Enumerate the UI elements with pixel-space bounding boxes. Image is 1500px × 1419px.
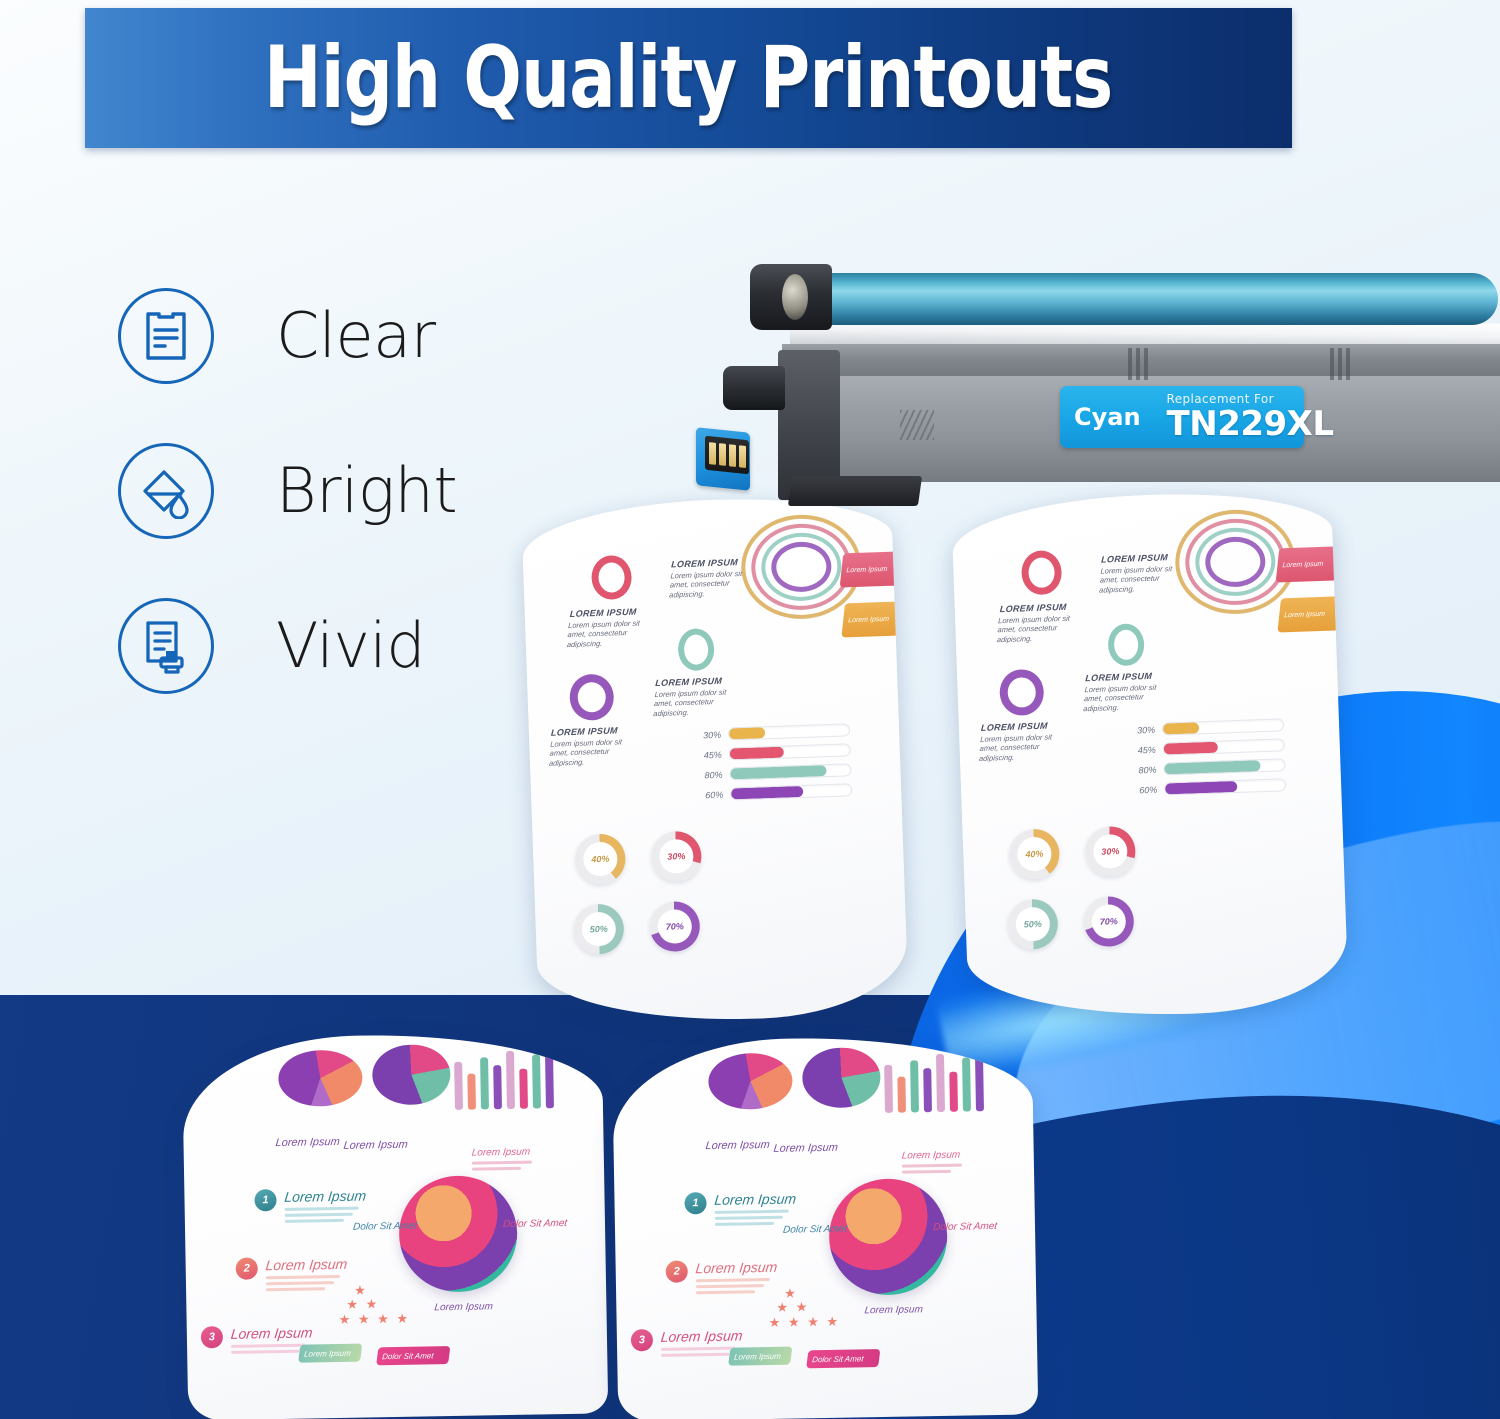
ig-body: Lorem ipsum dolor sit amet, consectetur … bbox=[567, 618, 647, 649]
printed-sheet-lower-left: Lorem Ipsum Lorem Ipsum Lorem Ipsum 1 Lo… bbox=[182, 1031, 609, 1419]
donut-chart: 40% bbox=[1009, 828, 1061, 880]
bar-pct: 30% bbox=[1131, 724, 1155, 735]
bar-row: 45% bbox=[1132, 738, 1285, 756]
pie-chart bbox=[802, 1047, 881, 1108]
ig-body: Lorem ipsum dolor sit amet, consectetur … bbox=[1083, 683, 1163, 714]
bar-track bbox=[729, 763, 851, 780]
bar-row: 80% bbox=[698, 763, 851, 781]
lorem-lines bbox=[472, 1161, 532, 1174]
bar-row: 30% bbox=[697, 723, 850, 741]
donut-value: 30% bbox=[1093, 834, 1128, 869]
bar-track bbox=[729, 743, 851, 760]
drum-roller bbox=[808, 273, 1498, 325]
number-badge: 1 bbox=[684, 1192, 706, 1214]
vertical-bar-group bbox=[884, 1049, 984, 1113]
drum-hub bbox=[782, 274, 808, 320]
sphere-chart bbox=[828, 1178, 948, 1296]
tag-pill-magenta: Dolor Sit Amet bbox=[806, 1349, 880, 1368]
lorem-label: Lorem Ipsum bbox=[230, 1324, 313, 1341]
dolor-label: Dolor Sit Amet bbox=[782, 1224, 847, 1236]
document-lines-icon bbox=[118, 288, 214, 384]
ig-body: Lorem ipsum dolor sit amet, consectetur … bbox=[997, 613, 1077, 644]
numbered-item-1: 1 Lorem Ipsum bbox=[254, 1187, 366, 1226]
donut-row-top: 40% 30% bbox=[575, 831, 703, 885]
pie-chart bbox=[708, 1053, 793, 1110]
vertical-bar-group bbox=[454, 1046, 554, 1110]
donut-row-bottom: 50% 70% bbox=[1007, 896, 1135, 950]
printed-sheet-upper-right: LOREM IPSUM Lorem ipsum dolor sit amet, … bbox=[951, 489, 1349, 1022]
bar-track bbox=[1162, 718, 1284, 735]
ig-body: Lorem ipsum dolor sit amet, consectetur … bbox=[669, 569, 751, 600]
feature-item-vivid: Vivid bbox=[118, 582, 457, 710]
bar-track bbox=[1163, 738, 1285, 755]
lorem-label: Lorem Ipsum bbox=[695, 1259, 778, 1276]
lorem-label: Lorem Ipsum bbox=[265, 1256, 348, 1273]
lorem-label: Lorem Ipsum bbox=[714, 1190, 797, 1207]
ig-body: Lorem ipsum dolor sit amet, consectetur … bbox=[549, 737, 629, 768]
lorem-label: Lorem Ipsum bbox=[434, 1301, 494, 1313]
tag-pill-green: Lorem Ipsum bbox=[298, 1344, 362, 1363]
donut-value: 70% bbox=[1091, 904, 1126, 939]
ring-teal bbox=[1107, 623, 1144, 666]
bar-pct: 45% bbox=[1132, 744, 1156, 755]
donut-chart: 30% bbox=[1084, 826, 1136, 878]
ig-body: Lorem ipsum dolor sit amet, consectetur … bbox=[979, 732, 1059, 763]
bar-track bbox=[1164, 778, 1286, 795]
banner-title: High Quality Printouts bbox=[264, 35, 1112, 121]
number-badge: 3 bbox=[201, 1326, 223, 1348]
ring-teal bbox=[677, 628, 714, 671]
dolor-label: Dolor Sit Amet bbox=[932, 1221, 997, 1233]
cartridge-chip bbox=[705, 436, 749, 475]
tag-pill-orange: Lorem Ipsum bbox=[1277, 596, 1343, 632]
printed-sheet-lower-right: Lorem Ipsum Lorem Ipsum Lorem Ipsum 1 Lo… bbox=[612, 1034, 1039, 1419]
cartridge-label: Cyan Replacement For TN229XL bbox=[1060, 386, 1304, 448]
donut-chart: 50% bbox=[1007, 898, 1059, 950]
header-banner: High Quality Printouts bbox=[85, 8, 1292, 148]
pie-chart bbox=[372, 1044, 451, 1105]
dolor-label: Dolor Sit Amet bbox=[502, 1218, 567, 1230]
lorem-label: Lorem Ipsum bbox=[284, 1187, 367, 1204]
feature-label-bright: Bright bbox=[276, 460, 457, 522]
number-badge: 1 bbox=[254, 1189, 276, 1211]
ig-body: Lorem ipsum dolor sit amet, consectetur … bbox=[1099, 564, 1181, 595]
numbered-item-3: 3 Lorem Ipsum bbox=[201, 1324, 313, 1357]
tag-pill-green: Lorem Ipsum bbox=[728, 1347, 792, 1366]
lorem-label: Lorem Ipsum bbox=[773, 1142, 838, 1155]
cartridge-knob bbox=[723, 366, 785, 410]
feature-item-bright: Bright bbox=[118, 427, 457, 555]
lorem-label: Lorem Ipsum bbox=[343, 1139, 408, 1152]
numbered-item-3: 3 Lorem Ipsum bbox=[631, 1327, 743, 1360]
printed-sheet-upper-left: LOREM IPSUM Lorem ipsum dolor sit amet, … bbox=[521, 494, 909, 1027]
donut-chart: 40% bbox=[575, 833, 627, 885]
bar-track bbox=[730, 783, 852, 800]
donut-value: 40% bbox=[583, 841, 618, 876]
star-rating: ★ ★ ★ ★ ★ ★ ★ bbox=[338, 1283, 410, 1327]
donut-row-top: 40% 30% bbox=[1009, 826, 1137, 880]
numbered-item-2: 2 Lorem Ipsum bbox=[666, 1259, 778, 1298]
donut-chart: 70% bbox=[649, 901, 701, 953]
bar-row: 60% bbox=[1133, 778, 1286, 796]
tag-pill-magenta: Dolor Sit Amet bbox=[376, 1346, 450, 1365]
bar-row: 45% bbox=[698, 743, 851, 761]
donut-value: 50% bbox=[1015, 907, 1050, 942]
document-printer-icon bbox=[118, 598, 214, 694]
bar-pct: 60% bbox=[699, 789, 723, 800]
bar-pct: 80% bbox=[698, 769, 722, 780]
lorem-label: Lorem Ipsum bbox=[275, 1136, 340, 1149]
cartridge-grip-hatch bbox=[900, 410, 934, 440]
donut-value: 30% bbox=[659, 839, 694, 874]
cartridge-foot bbox=[788, 476, 922, 506]
donut-chart: 70% bbox=[1083, 896, 1135, 948]
numbered-item-1: 1 Lorem Ipsum bbox=[684, 1190, 796, 1229]
bar-row: 80% bbox=[1132, 758, 1285, 776]
pie-chart bbox=[278, 1050, 363, 1107]
lorem-label: Lorem Ipsum bbox=[705, 1139, 770, 1152]
bar-track bbox=[1163, 758, 1285, 775]
bar-pct: 30% bbox=[697, 729, 721, 740]
dolor-label: Dolor Sit Amet bbox=[352, 1221, 417, 1233]
feature-list: Clear Bright bbox=[118, 272, 457, 737]
feature-item-clear: Clear bbox=[118, 272, 457, 400]
donut-chart: 50% bbox=[573, 903, 625, 955]
lorem-label: Lorem Ipsum bbox=[471, 1147, 531, 1159]
donut-value: 70% bbox=[657, 909, 692, 944]
numbered-item-2: 2 Lorem Ipsum bbox=[236, 1256, 348, 1295]
bar-row: 60% bbox=[699, 783, 852, 801]
product-marketing-image: High Quality Printouts Clear bbox=[0, 0, 1500, 1419]
number-badge: 2 bbox=[236, 1257, 258, 1279]
lorem-label: Lorem Ipsum bbox=[660, 1327, 743, 1344]
bar-chart-group: 30% 45% 80% 60% bbox=[697, 723, 853, 808]
number-badge: 2 bbox=[666, 1260, 688, 1282]
bar-row: 30% bbox=[1131, 718, 1284, 736]
donut-value: 40% bbox=[1017, 837, 1052, 872]
bar-pct: 80% bbox=[1132, 764, 1156, 775]
ring-pink bbox=[591, 555, 633, 600]
feature-label-vivid: Vivid bbox=[276, 615, 425, 677]
donut-row-bottom: 50% 70% bbox=[573, 901, 701, 955]
sphere-chart bbox=[398, 1175, 518, 1293]
ring-purple bbox=[569, 674, 615, 722]
star-rating: ★ ★ ★ ★ ★ ★ ★ bbox=[768, 1286, 840, 1330]
label-color-name: Cyan bbox=[1074, 405, 1154, 429]
number-badge: 3 bbox=[631, 1329, 653, 1351]
ink-drop-fill-icon bbox=[118, 443, 214, 539]
ring-pink bbox=[1021, 550, 1063, 595]
lorem-label: Lorem Ipsum bbox=[864, 1304, 924, 1316]
donut-chart: 30% bbox=[650, 831, 702, 883]
ring-purple bbox=[999, 669, 1045, 717]
donut-value: 50% bbox=[581, 912, 616, 947]
label-model-number: TN229XL bbox=[1167, 407, 1334, 441]
bar-pct: 60% bbox=[1133, 784, 1157, 795]
lorem-label: Lorem Ipsum bbox=[901, 1150, 961, 1162]
bar-pct: 45% bbox=[698, 749, 722, 760]
tag-pill-pink: Lorem Ipsum bbox=[1276, 546, 1342, 582]
feature-label-clear: Clear bbox=[276, 305, 436, 367]
toner-cartridge: Cyan Replacement For TN229XL bbox=[690, 258, 1500, 518]
lorem-lines bbox=[902, 1164, 962, 1177]
bar-track bbox=[728, 723, 850, 740]
bar-chart-group: 30% 45% 80% 60% bbox=[1131, 718, 1287, 803]
ig-body: Lorem ipsum dolor sit amet, consectetur … bbox=[653, 687, 733, 718]
